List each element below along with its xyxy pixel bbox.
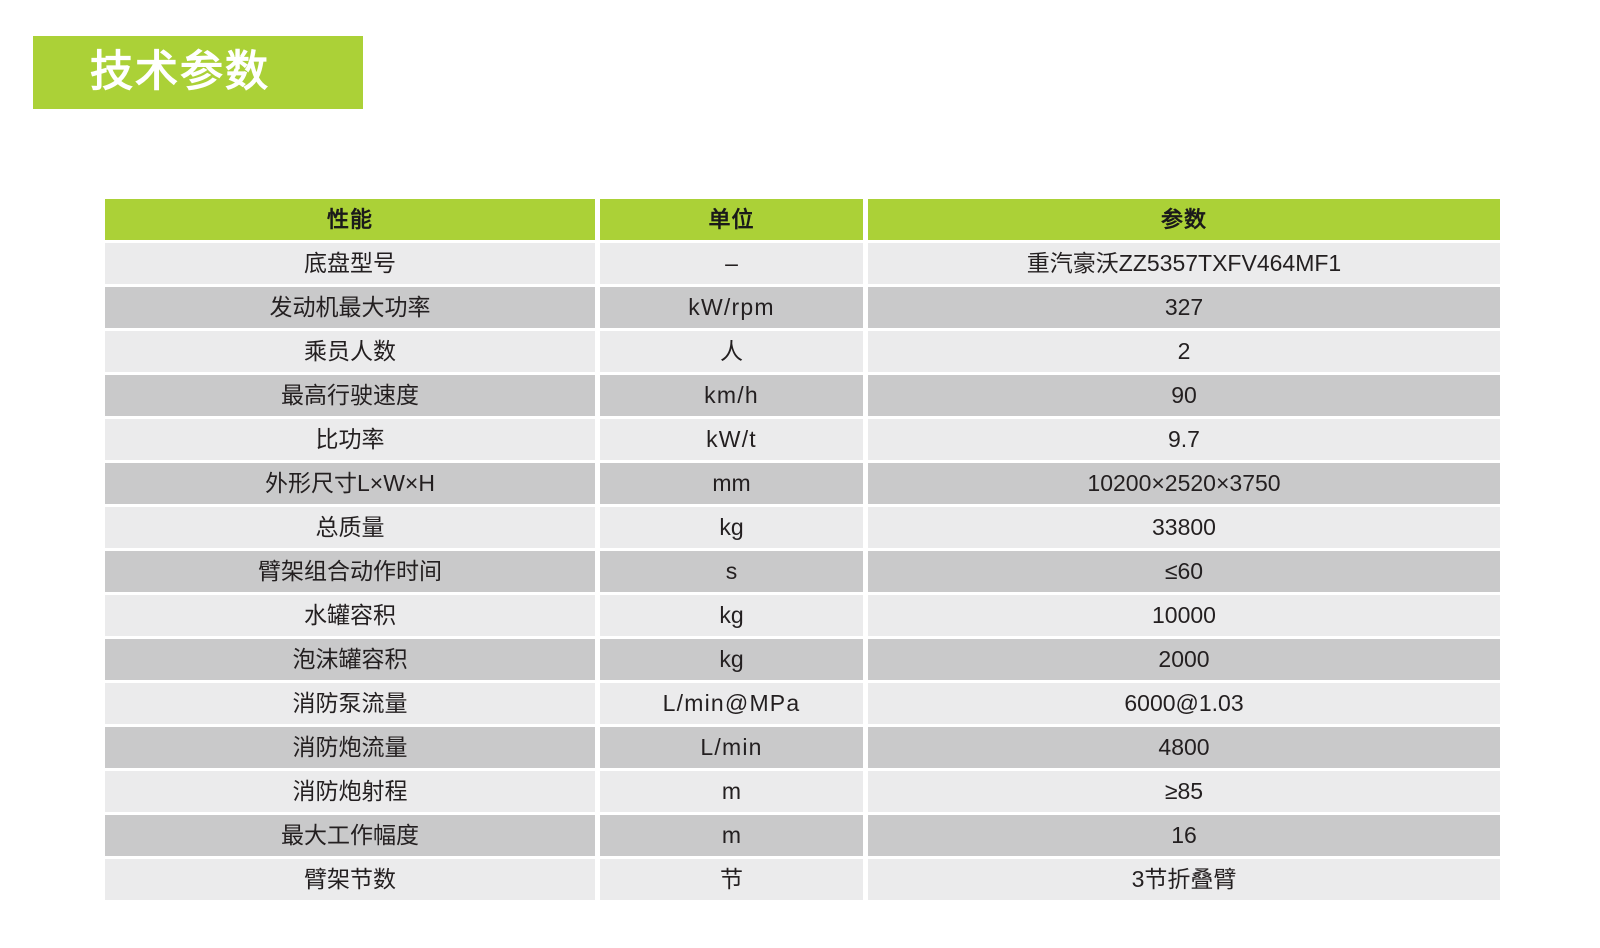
cell-unit: – <box>600 243 863 284</box>
cell-unit: mm <box>600 463 863 504</box>
cell-parameter-value: 2000 <box>868 639 1500 680</box>
table-row: 最大工作幅度m16 <box>105 815 1500 856</box>
table-row: 外形尺寸L×W×Hmm10200×2520×3750 <box>105 463 1500 504</box>
cell-performance-name: 发动机最大功率 <box>105 287 595 328</box>
cell-performance-name: 最大工作幅度 <box>105 815 595 856</box>
table-row: 臂架组合动作时间s≤60 <box>105 551 1500 592</box>
column-header-unit: 单位 <box>600 199 863 240</box>
table-row: 消防泵流量L/min@MPa6000@1.03 <box>105 683 1500 724</box>
cell-performance-name: 乘员人数 <box>105 331 595 372</box>
cell-unit: L/min@MPa <box>600 683 863 724</box>
table-row: 总质量kg33800 <box>105 507 1500 548</box>
cell-performance-name: 臂架节数 <box>105 859 595 900</box>
cell-parameter-value: 10200×2520×3750 <box>868 463 1500 504</box>
cell-parameter-value: 6000@1.03 <box>868 683 1500 724</box>
cell-unit: 人 <box>600 331 863 372</box>
cell-performance-name: 底盘型号 <box>105 243 595 284</box>
cell-unit: kW/rpm <box>600 287 863 328</box>
cell-parameter-value: 3节折叠臂 <box>868 859 1500 900</box>
table-row: 比功率kW/t9.7 <box>105 419 1500 460</box>
table-body: 底盘型号–重汽豪沃ZZ5357TXFV464MF1发动机最大功率kW/rpm32… <box>105 243 1500 900</box>
table-row: 泡沫罐容积kg2000 <box>105 639 1500 680</box>
table-row: 水罐容积kg10000 <box>105 595 1500 636</box>
cell-unit: 节 <box>600 859 863 900</box>
cell-parameter-value: 2 <box>868 331 1500 372</box>
cell-performance-name: 水罐容积 <box>105 595 595 636</box>
cell-parameter-value: 重汽豪沃ZZ5357TXFV464MF1 <box>868 243 1500 284</box>
cell-parameter-value: 9.7 <box>868 419 1500 460</box>
cell-performance-name: 比功率 <box>105 419 595 460</box>
cell-parameter-value: ≥85 <box>868 771 1500 812</box>
cell-parameter-value: 327 <box>868 287 1500 328</box>
table-row: 乘员人数人2 <box>105 331 1500 372</box>
cell-performance-name: 臂架组合动作时间 <box>105 551 595 592</box>
column-header-performance: 性能 <box>105 199 595 240</box>
table-row: 消防炮射程m≥85 <box>105 771 1500 812</box>
cell-parameter-value: 33800 <box>868 507 1500 548</box>
page-title: 技术参数 <box>90 51 270 94</box>
cell-performance-name: 泡沫罐容积 <box>105 639 595 680</box>
cell-unit: km/h <box>600 375 863 416</box>
table-row: 底盘型号–重汽豪沃ZZ5357TXFV464MF1 <box>105 243 1500 284</box>
cell-unit: m <box>600 771 863 812</box>
table-header-row: 性能 单位 参数 <box>105 199 1500 240</box>
table-row: 臂架节数节3节折叠臂 <box>105 859 1500 900</box>
section-title-banner: 技术参数 <box>33 36 363 109</box>
cell-performance-name: 外形尺寸L×W×H <box>105 463 595 504</box>
cell-unit: kg <box>600 507 863 548</box>
column-header-parameter: 参数 <box>868 199 1500 240</box>
cell-unit: L/min <box>600 727 863 768</box>
cell-unit: kW/t <box>600 419 863 460</box>
cell-parameter-value: 10000 <box>868 595 1500 636</box>
cell-performance-name: 消防泵流量 <box>105 683 595 724</box>
cell-parameter-value: 16 <box>868 815 1500 856</box>
cell-parameter-value: 4800 <box>868 727 1500 768</box>
table-row: 消防炮流量L/min4800 <box>105 727 1500 768</box>
cell-performance-name: 消防炮流量 <box>105 727 595 768</box>
cell-parameter-value: 90 <box>868 375 1500 416</box>
cell-performance-name: 消防炮射程 <box>105 771 595 812</box>
cell-unit: kg <box>600 595 863 636</box>
cell-unit: m <box>600 815 863 856</box>
cell-performance-name: 总质量 <box>105 507 595 548</box>
cell-unit: kg <box>600 639 863 680</box>
cell-unit: s <box>600 551 863 592</box>
technical-specifications-table: 性能 单位 参数 底盘型号–重汽豪沃ZZ5357TXFV464MF1发动机最大功… <box>105 199 1500 900</box>
cell-performance-name: 最高行驶速度 <box>105 375 595 416</box>
table-row: 发动机最大功率kW/rpm327 <box>105 287 1500 328</box>
cell-parameter-value: ≤60 <box>868 551 1500 592</box>
table-row: 最高行驶速度km/h90 <box>105 375 1500 416</box>
